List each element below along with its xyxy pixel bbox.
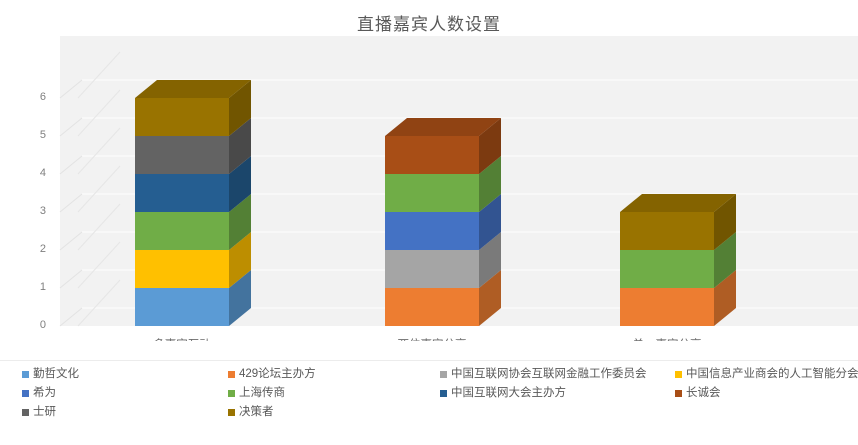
bar-stack-2[interactable] [385,36,505,326]
legend-item[interactable]: 决策者 [228,407,274,419]
legend-item[interactable]: 上海传商 [228,388,285,400]
legend-label: 决策者 [239,407,274,419]
y-axis-tick-6: 6 [22,91,46,103]
chart-title: 直播嘉宾人数设置 [0,10,858,35]
legend-label: 中国互联网协会互联网金融工作委员会 [451,369,647,381]
segment-front-face [135,136,229,174]
legend-label: 中国信息产业商会的人工智能分会 [686,369,858,381]
y-axis-tick-5: 5 [22,129,46,141]
legend-item[interactable]: 勤哲文化 [22,369,79,381]
segment-front-face [620,212,714,250]
legend-swatch-icon [228,409,235,416]
segment-front-face [385,136,479,174]
x-axis-label-1: 多嘉宾互动 [115,336,249,341]
y-axis-tick-3: 3 [22,205,46,217]
legend-label: 中国互联网大会主办方 [451,388,566,400]
legend-item[interactable]: 中国互联网协会互联网金融工作委员会 [440,369,647,381]
chart-container: 直播嘉宾人数设置 0123456 多嘉宾互动两位嘉宾分享单一嘉宾分享 勤哲文化4… [0,0,858,444]
segment-front-face [135,288,229,326]
legend-item[interactable]: 士研 [22,407,56,419]
x-axis-label-3: 单一嘉宾分享 [600,336,734,341]
legend-item[interactable]: 希为 [22,388,56,400]
legend: 勤哲文化429论坛主办方中国互联网协会互联网金融工作委员会中国信息产业商会的人工… [0,360,858,445]
legend-label: 429论坛主办方 [239,369,316,381]
bar-segment-士研[interactable] [135,136,229,174]
bar-stack-1[interactable] [135,36,255,326]
legend-item[interactable]: 中国互联网大会主办方 [440,388,566,400]
segment-front-face [385,174,479,212]
segment-front-face [620,288,714,326]
legend-swatch-icon [22,371,29,378]
bar-segment-希为[interactable] [385,212,479,250]
y-axis-tick-0: 0 [22,319,46,331]
legend-swatch-icon [228,390,235,397]
bar-segment-中国互联网大会主办方[interactable] [135,174,229,212]
bar-segment-中国信息产业商会的人工智能分会[interactable] [135,250,229,288]
legend-label: 长诚会 [686,388,721,400]
legend-swatch-icon [440,390,447,397]
segment-front-face [135,212,229,250]
bar-segment-中国互联网协会互联网金融工作委员会[interactable] [385,250,479,288]
segment-front-face [385,288,479,326]
legend-swatch-icon [228,371,235,378]
segment-front-face [385,250,479,288]
bar-segment-决策者[interactable] [135,98,229,136]
segment-front-face [385,212,479,250]
y-axis-tick-4: 4 [22,167,46,179]
segment-front-face [135,250,229,288]
legend-swatch-icon [675,390,682,397]
legend-item[interactable]: 长诚会 [675,388,721,400]
bar-segment-决策者[interactable] [620,212,714,250]
bar-segment-429论坛主办方[interactable] [620,288,714,326]
legend-item[interactable]: 429论坛主办方 [228,369,316,381]
bar-segment-上海传商[interactable] [385,174,479,212]
bar-segment-长诚会[interactable] [385,136,479,174]
bar-segment-429论坛主办方[interactable] [385,288,479,326]
legend-label: 士研 [33,407,56,419]
legend-swatch-icon [675,371,682,378]
x-axis-label-2: 两位嘉宾分享 [365,336,499,341]
legend-swatch-icon [22,390,29,397]
legend-item[interactable]: 中国信息产业商会的人工智能分会 [675,369,858,381]
segment-front-face [135,98,229,136]
segment-front-face [135,174,229,212]
y-axis-tick-1: 1 [22,281,46,293]
bar-segment-上海传商[interactable] [620,250,714,288]
legend-label: 上海传商 [239,388,285,400]
legend-swatch-icon [22,409,29,416]
bar-segment-勤哲文化[interactable] [135,288,229,326]
legend-swatch-icon [440,371,447,378]
y-axis-tick-2: 2 [22,243,46,255]
plot-area: 0123456 多嘉宾互动两位嘉宾分享单一嘉宾分享 [0,36,858,341]
bar-stack-3[interactable] [620,36,740,326]
legend-label: 勤哲文化 [33,369,79,381]
legend-label: 希为 [33,388,56,400]
bar-segment-上海传商[interactable] [135,212,229,250]
segment-front-face [620,250,714,288]
